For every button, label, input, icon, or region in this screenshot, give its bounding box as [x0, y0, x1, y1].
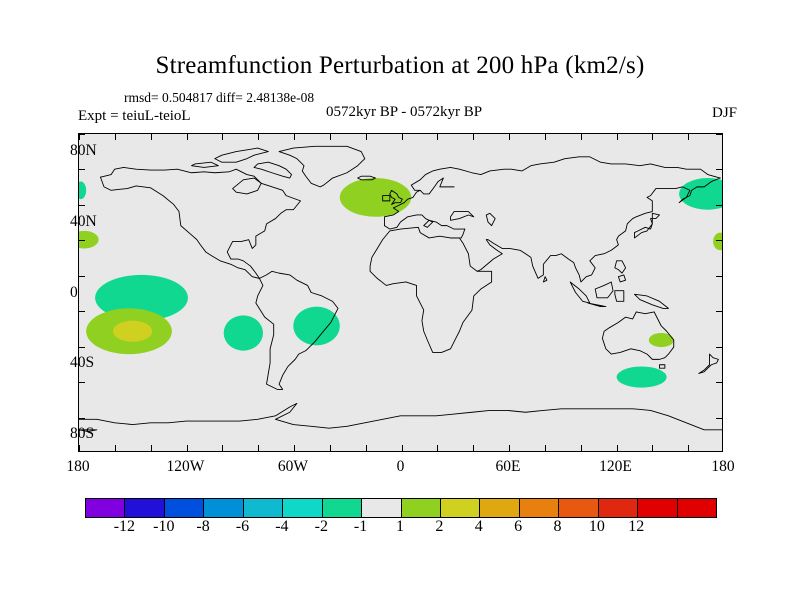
y-axis-tick	[79, 382, 85, 383]
coastline-segment	[615, 261, 626, 273]
coastline-segment	[420, 178, 454, 194]
y-axis-tick	[716, 418, 722, 419]
x-axis-tick	[258, 134, 259, 140]
colorbar-tick-label: 6	[514, 518, 522, 536]
y-axis-tick	[716, 382, 722, 383]
experiment-label: Expt = teiuL-teioL	[78, 108, 191, 125]
coastline-segment	[370, 227, 492, 352]
coastline-segment	[588, 303, 606, 307]
coastline-segment	[615, 291, 624, 302]
world-map-canvas	[79, 134, 722, 451]
colorbar-tick-labels: -12-10-8-6-4-2-1124681012	[85, 518, 715, 540]
x-axis-tick	[688, 134, 689, 140]
x-axis-tick	[473, 445, 474, 451]
colorbar-tick-label: -10	[153, 518, 174, 536]
coastline-segment	[192, 162, 219, 167]
coastline-segment	[570, 282, 590, 303]
coastline-segment	[384, 215, 464, 229]
x-axis-tick	[402, 445, 403, 451]
anomaly-northeast-atlantic-positive	[340, 178, 411, 217]
x-axis-tick	[115, 445, 116, 451]
coastline-segment	[699, 354, 719, 373]
x-axis-tick	[79, 445, 80, 451]
y-axis-tick	[79, 276, 85, 277]
anomaly-westpacific-subtropical-positive	[713, 233, 722, 251]
x-axis-tick	[652, 445, 653, 451]
x-axis-tick	[581, 445, 582, 451]
coastline-segment	[79, 403, 722, 429]
x-axis-tick	[366, 445, 367, 451]
colorbar-swatch	[323, 499, 362, 517]
colorbar-tick-label: -12	[114, 518, 135, 536]
x-axis-tick	[617, 134, 618, 140]
x-axis-tick	[437, 445, 438, 451]
y-axis-tick	[716, 205, 722, 206]
colorbar-swatch	[86, 499, 125, 517]
coastline-segment	[595, 282, 613, 298]
coastline-segment	[279, 146, 365, 187]
y-axis-tick	[716, 276, 722, 277]
coastline-segment	[227, 178, 300, 278]
y-axis-tick	[716, 347, 722, 348]
coastline-segment	[451, 229, 465, 238]
colorbar-swatch	[125, 499, 164, 517]
colorbar-swatch	[165, 499, 204, 517]
y-axis-tick	[79, 169, 85, 170]
colorbar-tick-label: 4	[475, 518, 483, 536]
colorbar-tick-label: -1	[354, 518, 367, 536]
coastline-segment	[215, 148, 269, 162]
colorbar-swatch	[441, 499, 480, 517]
colorbar-swatch	[480, 499, 519, 517]
y-axis-tick	[79, 205, 85, 206]
x-axis-label: 0	[397, 458, 405, 476]
x-axis-tick	[581, 134, 582, 140]
y-axis-tick	[716, 311, 722, 312]
x-axis-label: 120W	[167, 458, 205, 476]
coastline-segment	[618, 275, 625, 282]
coastline-segment	[384, 157, 720, 226]
x-axis-label: 60E	[496, 458, 521, 476]
colorbar-tick-label: -6	[236, 518, 249, 536]
colorbar-swatch	[283, 499, 322, 517]
x-axis-tick	[330, 445, 331, 451]
colorbar-swatch	[559, 499, 598, 517]
map-plot-area	[78, 133, 723, 452]
rmsd-statistics-label: rmsd= 0.504817 diff= 2.48138e-08	[124, 90, 314, 106]
colorbar-tick-label: -4	[275, 518, 288, 536]
coastline-segment	[634, 213, 659, 238]
y-axis-tick	[79, 311, 85, 312]
x-axis-tick	[258, 445, 259, 451]
x-axis-tick	[545, 445, 546, 451]
x-axis-tick	[437, 134, 438, 140]
colorbar-swatch	[244, 499, 283, 517]
x-axis-tick	[402, 134, 403, 140]
x-axis-tick	[617, 445, 618, 451]
colorbar-tick-label: 2	[435, 518, 443, 536]
x-axis-tick	[222, 445, 223, 451]
colorbar-swatch	[204, 499, 243, 517]
x-axis-tick	[151, 134, 152, 140]
x-axis-tick	[652, 134, 653, 140]
colorbar-swatch	[520, 499, 559, 517]
colorbar-tick-label: -2	[315, 518, 328, 536]
coastline-segment	[659, 365, 664, 368]
x-axis-tick	[151, 445, 152, 451]
y-axis-tick	[79, 134, 85, 135]
anomaly-south-pacific-positive-core	[113, 321, 152, 342]
anomaly-southern-ocean-negative	[617, 366, 667, 387]
colorbar	[85, 498, 717, 518]
x-axis-tick	[115, 134, 116, 140]
page-title: Streamfunction Perturbation at 200 hPa (…	[0, 52, 800, 80]
coastline-segment	[254, 162, 291, 178]
x-axis-tick	[366, 134, 367, 140]
x-axis-label: 120E	[599, 458, 632, 476]
period-label: 0572kyr BP - 0572kyr BP	[326, 104, 482, 121]
colorbar-swatch	[638, 499, 677, 517]
colorbar-tick-label: 12	[628, 518, 644, 536]
season-label: DJF	[712, 105, 737, 122]
x-axis-label: 180	[66, 458, 89, 476]
colorbar-tick-label: 10	[589, 518, 605, 536]
y-axis-tick	[79, 418, 85, 419]
coastline-segment	[486, 213, 495, 225]
x-axis-tick	[509, 445, 510, 451]
y-axis-tick	[79, 240, 85, 241]
x-axis-tick	[294, 134, 295, 140]
x-axis-tick	[294, 445, 295, 451]
colorbar-tick-label: -8	[196, 518, 209, 536]
colorbar-swatch	[362, 499, 401, 517]
x-axis-label: 60W	[278, 458, 308, 476]
x-axis-tick	[222, 134, 223, 140]
coastline-segment	[451, 212, 474, 221]
coastline-segment	[100, 177, 259, 278]
x-axis-tick	[187, 134, 188, 140]
coastline-segment	[543, 277, 547, 282]
x-axis-label: 180	[711, 458, 734, 476]
y-axis-tick	[716, 169, 722, 170]
y-axis-tick	[716, 240, 722, 241]
colorbar-tick-label: 1	[396, 518, 404, 536]
x-axis-tick	[509, 134, 510, 140]
y-axis-tick	[716, 134, 722, 135]
coastline-segment	[634, 294, 668, 308]
colorbar-tick-label: 8	[554, 518, 562, 536]
x-axis-tick	[688, 445, 689, 451]
colorbar-swatch	[678, 499, 716, 517]
x-axis-tick	[187, 445, 188, 451]
anomaly-dateline-north-negative-sliver	[79, 182, 86, 200]
y-axis-tick	[79, 347, 85, 348]
x-axis-tick	[473, 134, 474, 140]
x-axis-tick	[545, 134, 546, 140]
x-axis-tick	[330, 134, 331, 140]
coastline-segment	[100, 167, 261, 183]
colorbar-swatch	[402, 499, 441, 517]
anomaly-southeast-pacific-negative	[224, 315, 263, 350]
colorbar-swatch	[599, 499, 638, 517]
